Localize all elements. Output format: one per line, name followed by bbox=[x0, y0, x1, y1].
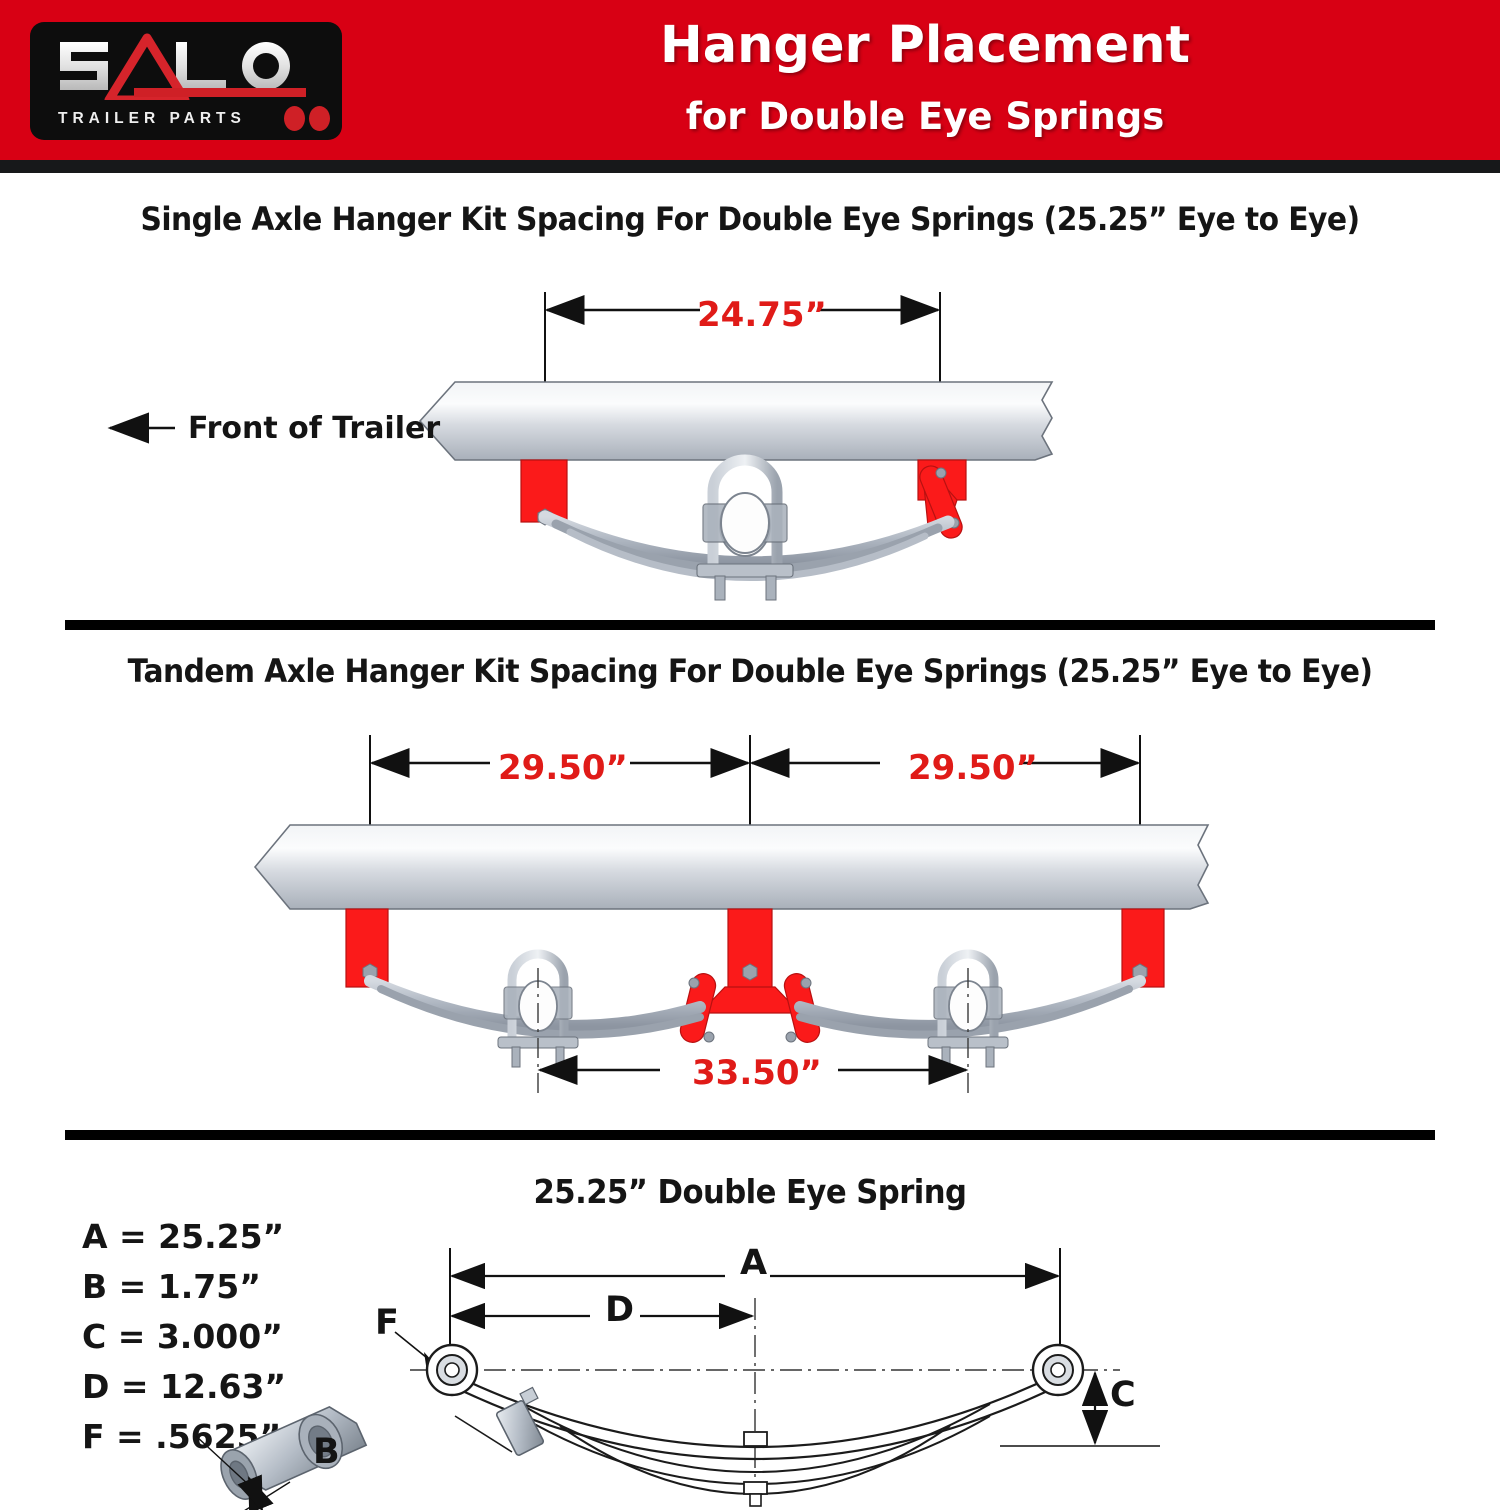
brand-tagline: TRAILER PARTS bbox=[58, 110, 316, 128]
dim-b-label: B bbox=[313, 1432, 340, 1472]
page-root: TRAILER PARTS Hanger Placement for Doubl… bbox=[0, 0, 1500, 1500]
page-title: Hanger Placement bbox=[350, 16, 1500, 75]
section-divider-1 bbox=[65, 620, 1435, 630]
measure-d: D = 12.63” bbox=[82, 1362, 286, 1412]
trailer-wheels-icon bbox=[280, 106, 330, 136]
front-of-trailer-label: Front of Trailer bbox=[188, 411, 440, 446]
dim-29-50-right-label: 29.50” bbox=[908, 748, 1038, 788]
measure-f: F = .5625” bbox=[82, 1412, 286, 1462]
dim-f-label: F bbox=[375, 1303, 399, 1343]
section-heading-tandem-axle: Tandem Axle Hanger Kit Spacing For Doubl… bbox=[53, 652, 1448, 690]
dim-33-50-label: 33.50” bbox=[692, 1053, 822, 1093]
measure-c: C = 3.000” bbox=[82, 1312, 286, 1362]
page-subtitle: for Double Eye Springs bbox=[350, 95, 1500, 138]
dim-24-75-label: 24.75” bbox=[697, 295, 827, 335]
salo-wordmark-icon bbox=[30, 28, 342, 100]
section-divider-2 bbox=[65, 1130, 1435, 1140]
dim-d-label: D bbox=[605, 1290, 634, 1330]
dim-a-label: A bbox=[740, 1243, 767, 1283]
measure-a: A = 25.25” bbox=[82, 1212, 286, 1262]
header-underline bbox=[0, 160, 1500, 173]
measure-b: B = 1.75” bbox=[82, 1262, 286, 1312]
brand-logo: TRAILER PARTS bbox=[30, 22, 342, 140]
section-heading-spring-detail: 25.25” Double Eye Spring bbox=[53, 1172, 1448, 1211]
spring-measurements-list: A = 25.25” B = 1.75” C = 3.000” D = 12.6… bbox=[82, 1212, 286, 1462]
section-heading-single-axle: Single Axle Hanger Kit Spacing For Doubl… bbox=[53, 200, 1448, 238]
dim-29-50-left-label: 29.50” bbox=[498, 748, 628, 788]
dim-c-label: C bbox=[1110, 1375, 1136, 1415]
page-header: TRAILER PARTS Hanger Placement for Doubl… bbox=[0, 0, 1500, 160]
